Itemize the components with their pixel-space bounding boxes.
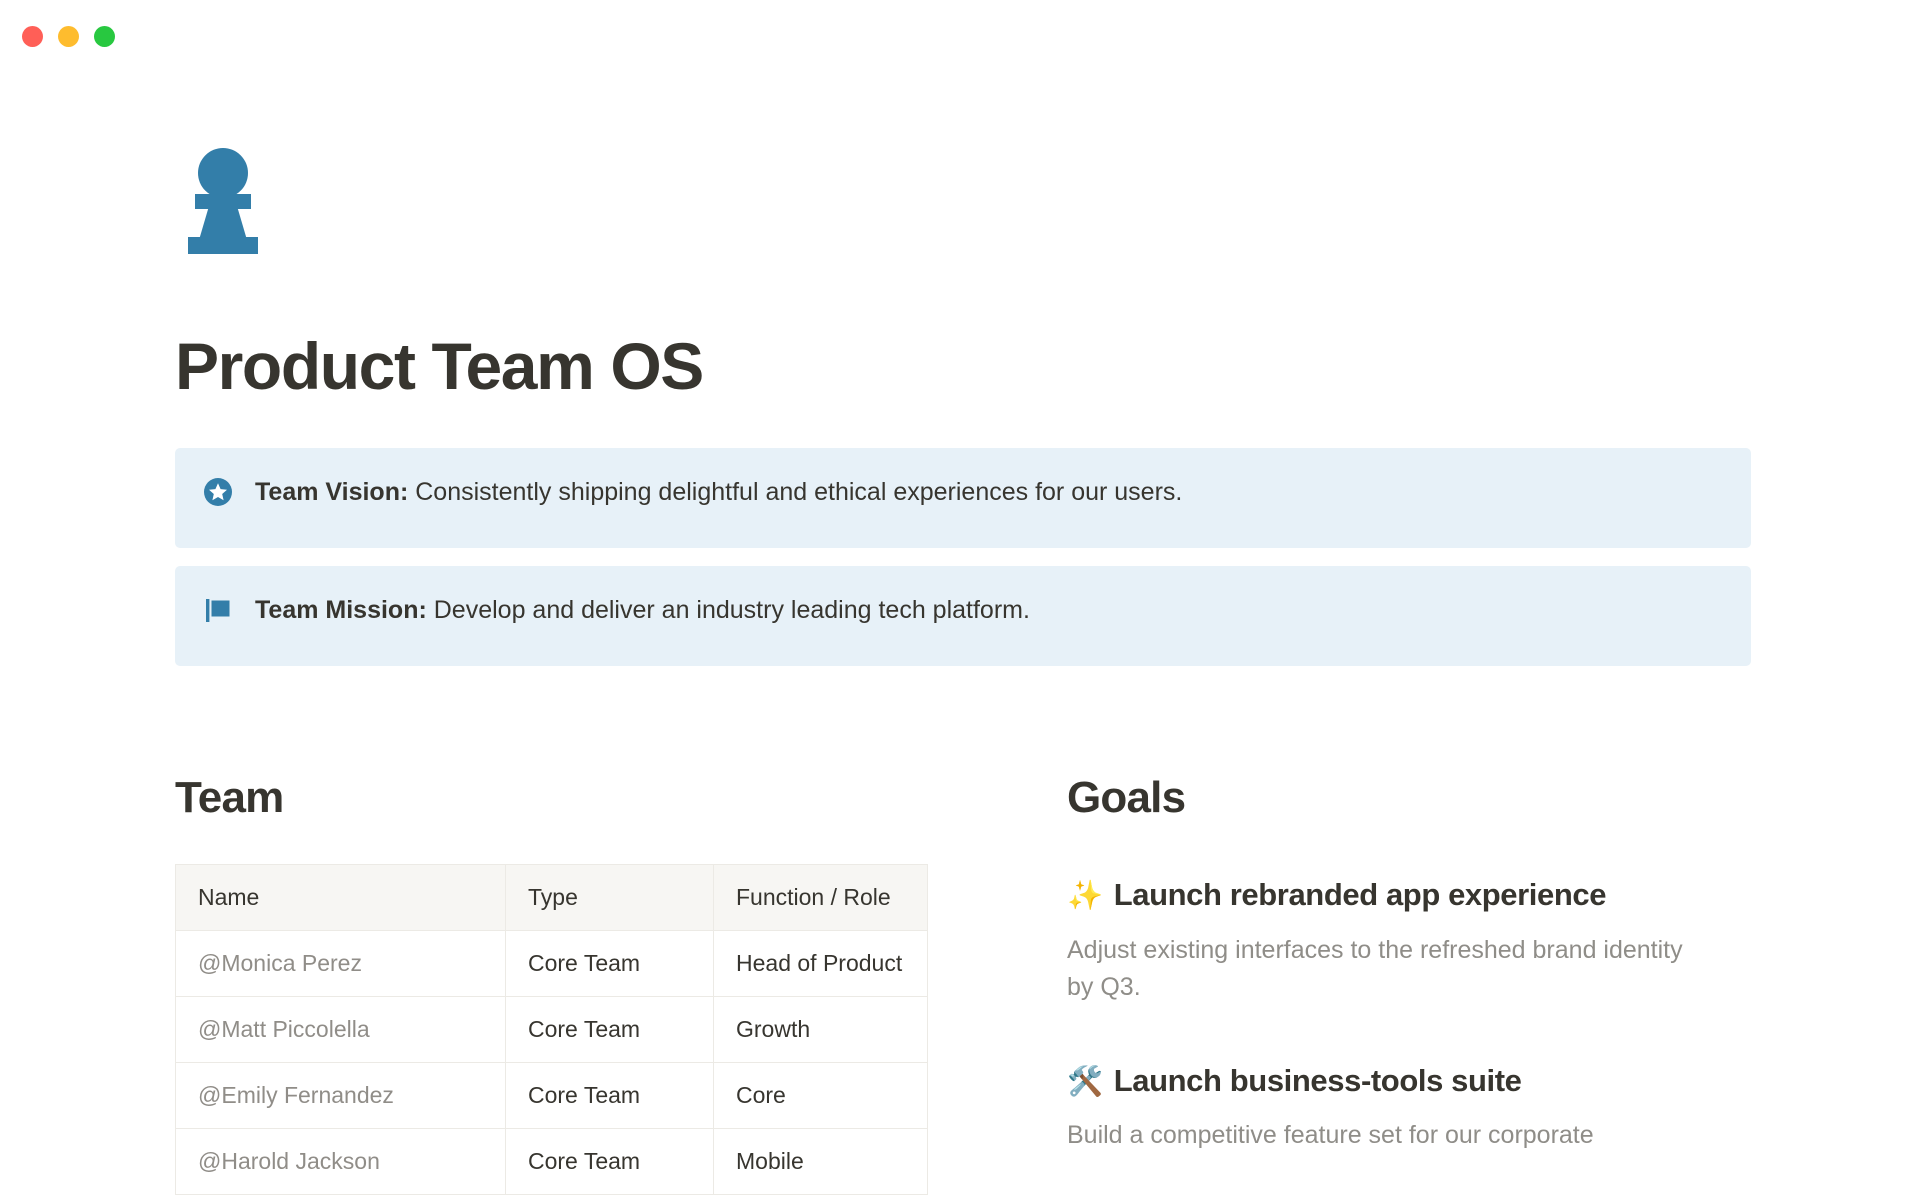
goal-title: Launch rebranded app experience [1114,876,1606,915]
page-title: Product Team OS [175,332,1800,402]
goal-description: Build a competitive feature set for our … [1067,1117,1695,1154]
window-traffic-lights [22,26,115,47]
table-header-row: Name Type Function / Role [176,865,928,931]
table-row[interactable]: @Emily Fernandez Core Team Core [176,1063,928,1129]
cell-name[interactable]: @Harold Jackson [176,1129,506,1195]
chess-pawn-icon[interactable] [175,142,271,254]
goals-list: ✨ Launch rebranded app experience Adjust… [1067,876,1695,1154]
callout-team-mission[interactable]: Team Mission: Develop and deliver an ind… [175,566,1751,666]
column-header-name[interactable]: Name [176,865,506,931]
goal-item: 🛠️ Launch business-tools suite Build a c… [1067,1062,1695,1155]
document-page: Product Team OS Team Vision: Consistentl… [0,142,1920,1195]
cell-role[interactable]: Head of Product [714,931,928,997]
maximize-window-button[interactable] [94,26,115,47]
goal-heading: 🛠️ Launch business-tools suite [1067,1062,1695,1101]
callout-list: Team Vision: Consistently shipping delig… [175,448,1800,666]
cell-role[interactable]: Growth [714,997,928,1063]
column-header-type[interactable]: Type [506,865,714,931]
cell-role[interactable]: Mobile [714,1129,928,1195]
callout-team-mission-label: Team Mission: [255,596,427,624]
goal-description: Adjust existing interfaces to the refres… [1067,932,1695,1006]
table-row[interactable]: @Monica Perez Core Team Head of Product [176,931,928,997]
cell-name[interactable]: @Emily Fernandez [176,1063,506,1129]
table-row[interactable]: @Harold Jackson Core Team Mobile [176,1129,928,1195]
cell-type[interactable]: Core Team [506,997,714,1063]
column-header-role[interactable]: Function / Role [714,865,928,931]
callout-team-vision-text: Team Vision: Consistently shipping delig… [255,474,1182,511]
cell-type[interactable]: Core Team [506,1063,714,1129]
team-section-heading: Team [175,774,935,822]
goals-section-heading: Goals [1067,774,1695,822]
cell-name[interactable]: @Monica Perez [176,931,506,997]
goal-item: ✨ Launch rebranded app experience Adjust… [1067,876,1695,1005]
callout-team-vision[interactable]: Team Vision: Consistently shipping delig… [175,448,1751,548]
callout-team-mission-body: Develop and deliver an industry leading … [427,596,1030,624]
cell-type[interactable]: Core Team [506,931,714,997]
close-window-button[interactable] [22,26,43,47]
flag-icon [203,595,233,625]
hammer-and-wrench-emoji: 🛠️ [1067,1068,1103,1097]
goal-title: Launch business-tools suite [1114,1062,1522,1101]
goals-column: Goals ✨ Launch rebranded app experience … [935,774,1695,1195]
callout-team-vision-label: Team Vision: [255,478,408,506]
team-table: Name Type Function / Role @Monica Perez … [175,864,928,1195]
goal-heading: ✨ Launch rebranded app experience [1067,876,1695,915]
sparkles-emoji: ✨ [1067,882,1103,911]
window-titlebar [0,0,1920,72]
app-window: Product Team OS Team Vision: Consistentl… [0,0,1920,1200]
table-row[interactable]: @Matt Piccolella Core Team Growth [176,997,928,1063]
cell-type[interactable]: Core Team [506,1129,714,1195]
callout-team-vision-body: Consistently shipping delightful and eth… [408,478,1182,506]
minimize-window-button[interactable] [58,26,79,47]
callout-team-mission-text: Team Mission: Develop and deliver an ind… [255,592,1030,629]
star-circle-icon [203,477,233,507]
cell-role[interactable]: Core [714,1063,928,1129]
cell-name[interactable]: @Matt Piccolella [176,997,506,1063]
team-column: Team Name Type Function / Role [175,774,935,1195]
content-columns: Team Name Type Function / Role [175,774,1800,1195]
